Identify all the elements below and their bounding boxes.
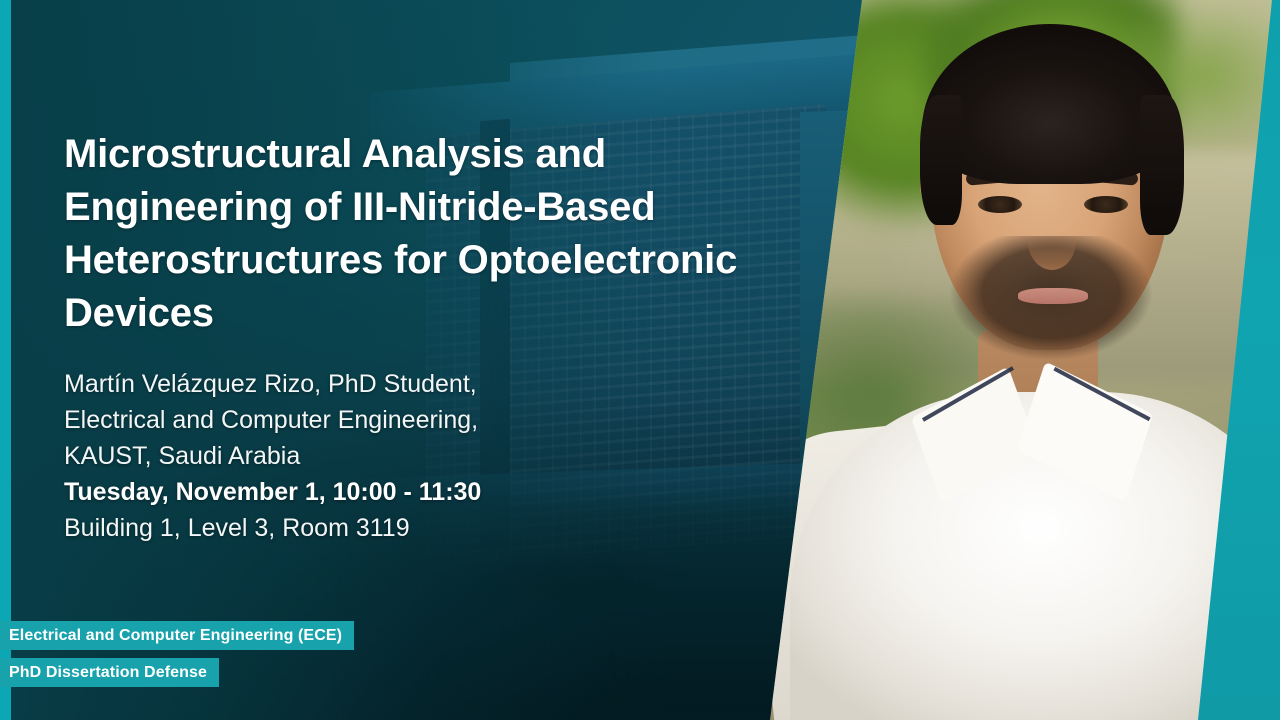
speaker-institution: KAUST, Saudi Arabia	[64, 438, 764, 474]
tag-event-type[interactable]: PhD Dissertation Defense	[0, 658, 219, 687]
tag-department[interactable]: Electrical and Computer Engineering (ECE…	[0, 621, 354, 650]
left-accent-bar	[0, 0, 11, 720]
portrait-eye-left	[978, 196, 1022, 213]
portrait-eye-right	[1084, 196, 1128, 213]
poster-text-block: Microstructural Analysis and Engineering…	[64, 128, 764, 546]
event-title: Microstructural Analysis and Engineering…	[64, 128, 754, 340]
portrait-nose	[1028, 212, 1076, 270]
event-location: Building 1, Level 3, Room 3119	[64, 510, 764, 546]
tag-bar-group: Electrical and Computer Engineering (ECE…	[0, 621, 354, 687]
speaker-department: Electrical and Computer Engineering,	[64, 402, 764, 438]
portrait-hair-side-right	[1140, 95, 1184, 235]
event-details: Martín Velázquez Rizo, PhD Student, Elec…	[64, 366, 764, 546]
portrait-mouth	[1018, 288, 1088, 304]
portrait-hair-side-left	[920, 95, 962, 225]
event-datetime: Tuesday, November 1, 10:00 - 11:30	[64, 474, 764, 510]
event-announcement-poster: Microstructural Analysis and Engineering…	[0, 0, 1280, 720]
speaker-name-and-role: Martín Velázquez Rizo, PhD Student,	[64, 366, 764, 402]
